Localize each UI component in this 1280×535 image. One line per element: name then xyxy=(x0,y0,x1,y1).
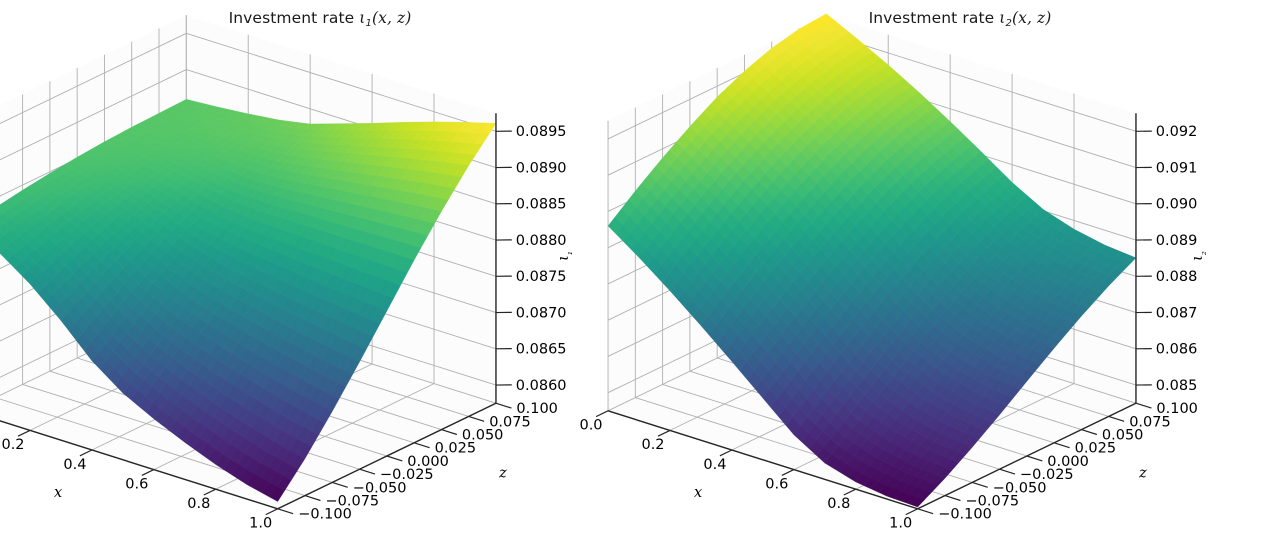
value-axis-label: ι₁ xyxy=(556,251,575,261)
x-tick-label: 0.2 xyxy=(1,437,24,453)
value-tick-label: 0.085 xyxy=(1156,378,1198,394)
svg-text:ι₂: ι₂ xyxy=(1190,251,1209,261)
z-depth-tick-label: −0.100 xyxy=(938,507,992,523)
x-tick xyxy=(658,430,670,436)
z-depth-tick xyxy=(387,456,402,461)
value-tick-label: 0.0885 xyxy=(516,197,567,213)
z-depth-tick xyxy=(1136,403,1151,408)
value-tick-label: 0.0875 xyxy=(516,269,567,285)
x-tick-label: 0.8 xyxy=(187,496,210,512)
value-tick-label: 0.089 xyxy=(1156,233,1198,249)
x-tick xyxy=(142,470,154,476)
x-tick xyxy=(906,509,918,515)
z-depth-axis-label: z xyxy=(498,466,507,482)
z-depth-tick xyxy=(972,482,987,487)
value-tick-label: 0.0890 xyxy=(516,160,567,176)
x-tick-label: 0.2 xyxy=(641,437,664,453)
x-tick-label: 0.6 xyxy=(125,476,148,492)
x-tick-label: 0.4 xyxy=(703,457,726,473)
x-tick-label: 0.0 xyxy=(579,418,602,434)
z-depth-axis-label: z xyxy=(1138,466,1147,482)
z-depth-tick xyxy=(1109,416,1124,421)
value-tick-label: 0.0870 xyxy=(516,305,567,321)
value-tick-label: 0.091 xyxy=(1156,160,1198,176)
x-tick xyxy=(720,450,732,456)
x-tick-label: 0.8 xyxy=(827,496,850,512)
subplot-iota-2: Investment rate ι2(x, z) 0.00.20.40.60.8… xyxy=(640,0,1280,535)
z-depth-tick xyxy=(918,509,933,514)
z-depth-tick xyxy=(945,496,960,501)
z-depth-tick xyxy=(469,416,484,421)
z-depth-tick xyxy=(305,496,320,501)
x-axis-label: x xyxy=(54,485,62,501)
z-depth-tick xyxy=(1054,443,1069,448)
x-tick xyxy=(18,430,30,436)
x-tick xyxy=(844,489,856,495)
x-tick-label: 0.4 xyxy=(63,457,86,473)
surface-plot-iota-1: 0.00.20.40.60.81.0x0.1000.0750.0500.0250… xyxy=(0,0,640,535)
z-depth-tick xyxy=(1081,430,1096,435)
x-tick xyxy=(80,450,92,456)
z-depth-tick xyxy=(332,482,347,487)
value-tick-label: 0.090 xyxy=(1156,197,1198,213)
x-tick xyxy=(204,489,216,495)
x-tick xyxy=(782,470,794,476)
z-depth-tick xyxy=(496,403,511,408)
x-tick-label: 1.0 xyxy=(249,516,272,532)
z-depth-tick xyxy=(414,443,429,448)
value-tick-label: 0.0880 xyxy=(516,233,567,249)
z-depth-tick xyxy=(1027,456,1042,461)
value-axis-label: ι₂ xyxy=(1190,251,1209,261)
surface-plot-iota-2: 0.00.20.40.60.81.0x0.1000.0750.0500.0250… xyxy=(640,0,1280,535)
z-depth-tick-label: −0.100 xyxy=(298,507,352,523)
x-tick-label: 1.0 xyxy=(889,516,912,532)
value-tick-label: 0.092 xyxy=(1156,124,1198,140)
subplot-iota-1: Investment rate ι1(x, z) 0.00.20.40.60.8… xyxy=(0,0,640,535)
z-depth-tick xyxy=(360,469,375,474)
z-depth-tick xyxy=(278,509,293,514)
value-tick-label: 0.0895 xyxy=(516,124,567,140)
value-tick-label: 0.088 xyxy=(1156,269,1198,285)
x-tick-label: 0.6 xyxy=(765,476,788,492)
x-axis-label: x xyxy=(694,485,702,501)
z-depth-tick xyxy=(441,430,456,435)
value-tick-label: 0.087 xyxy=(1156,305,1198,321)
value-tick-label: 0.0865 xyxy=(516,342,567,358)
x-tick xyxy=(266,509,278,515)
value-tick-label: 0.086 xyxy=(1156,342,1198,358)
z-depth-tick xyxy=(1000,469,1015,474)
value-tick-label: 0.0860 xyxy=(516,378,567,394)
svg-text:ι₁: ι₁ xyxy=(556,251,575,261)
figure-canvas: Investment rate ι1(x, z) 0.00.20.40.60.8… xyxy=(0,0,1280,535)
